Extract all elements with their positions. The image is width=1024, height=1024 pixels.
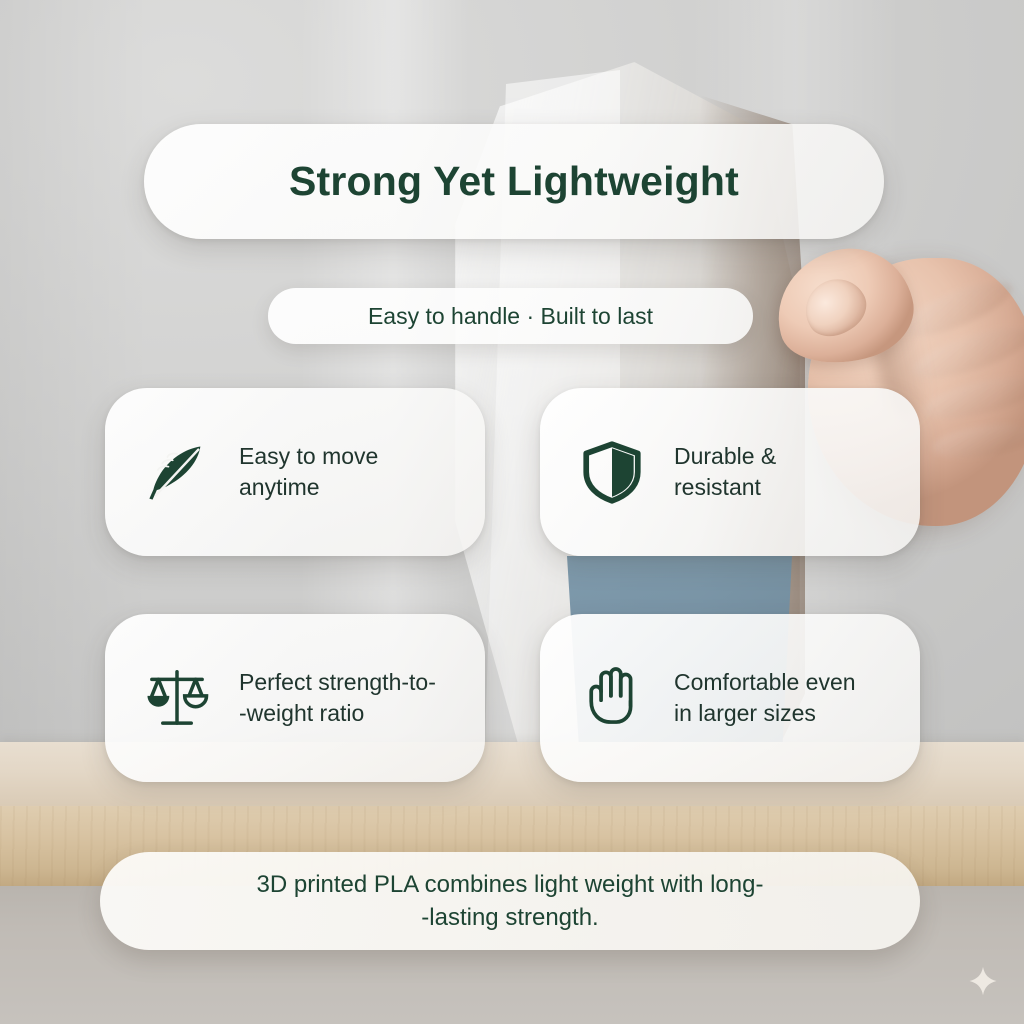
shield-icon (570, 430, 654, 514)
page-subtitle: Easy to handle · Built to last (368, 303, 653, 330)
scales-icon (135, 656, 219, 740)
footer-text: 3D printed PLA combines light weight wit… (257, 868, 764, 934)
feature-card-durable[interactable]: Durable & resistant (540, 388, 920, 556)
feature-label: Durable & resistant (674, 441, 776, 502)
feature-card-strength-to-weight[interactable]: Perfect strength-to- -weight ratio (105, 614, 485, 782)
feature-label: Perfect strength-to- -weight ratio (239, 667, 436, 728)
subtitle-pill: Easy to handle · Built to last (268, 288, 753, 344)
sparkle-icon (968, 966, 998, 996)
page-title: Strong Yet Lightweight (289, 158, 739, 205)
footer-pill: 3D printed PLA combines light weight wit… (100, 852, 920, 950)
thumbnail (795, 268, 876, 346)
title-pill: Strong Yet Lightweight (144, 124, 884, 239)
infographic-scene: Strong Yet Lightweight Easy to handle · … (0, 0, 1024, 1024)
feature-card-easy-to-move[interactable]: Easy to move anytime (105, 388, 485, 556)
feather-icon (135, 430, 219, 514)
hand-icon (570, 656, 654, 740)
feature-label: Easy to move anytime (239, 441, 378, 502)
feature-label: Comfortable even in larger sizes (674, 667, 856, 728)
feature-card-comfortable[interactable]: Comfortable even in larger sizes (540, 614, 920, 782)
